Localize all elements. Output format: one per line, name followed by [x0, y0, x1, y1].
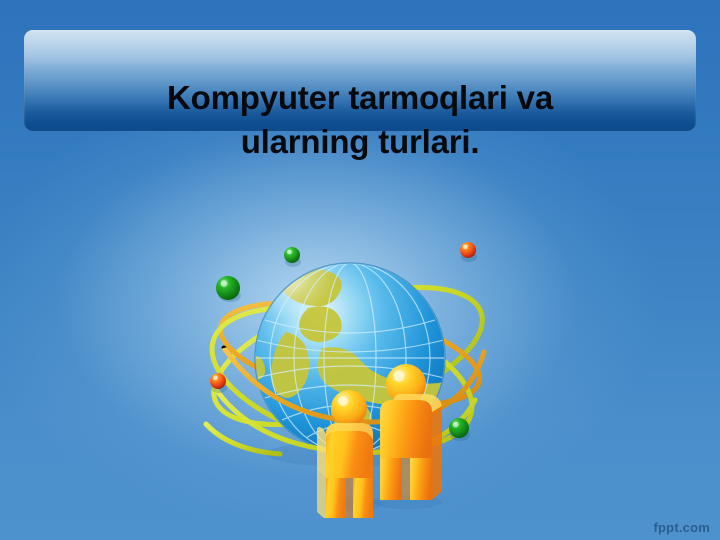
node-green-small-top — [284, 247, 301, 267]
fppt-watermark: fppt.com — [654, 520, 710, 535]
orbit-yellow-green-lower-front — [206, 424, 280, 454]
node-green-large-left — [216, 276, 241, 302]
global-network-illustration — [190, 228, 500, 518]
presentation-slide: Kompyuter tarmoqlari va ularning turlari… — [0, 0, 720, 540]
node-orange-top-right — [460, 242, 477, 262]
page-title: Kompyuter tarmoqlari va ularning turlari… — [24, 76, 696, 164]
